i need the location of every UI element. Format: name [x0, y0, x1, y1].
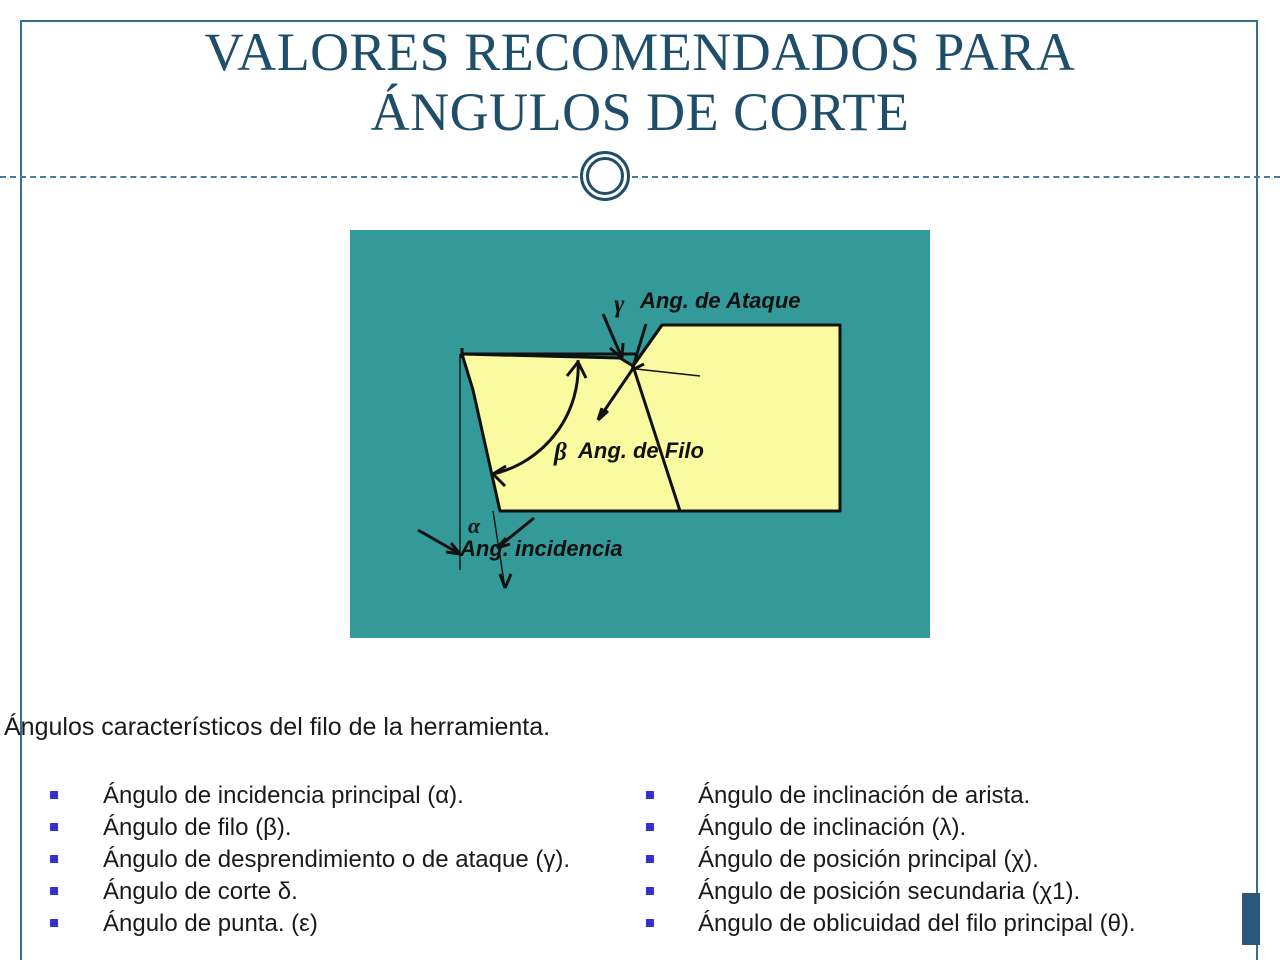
title-divider-dashed-line: [0, 176, 1280, 180]
bullet-square-icon: [50, 855, 58, 863]
bullet-list-left: Ángulo de incidencia principal (α). Ángu…: [50, 780, 650, 940]
bullet-square-icon: [50, 887, 58, 895]
clearance-angle-symbol: α: [468, 513, 481, 538]
bullet-square-icon: [50, 791, 58, 799]
bullet-list-right: Ángulo de inclinación de arista. Ángulo …: [646, 780, 1266, 940]
clearance-angle-label: Ang. incidencia: [459, 536, 623, 561]
page-title: VALORES RECOMENDADOS PARA ÁNGULOS DE COR…: [60, 22, 1220, 142]
bullet-square-icon: [50, 823, 58, 831]
rake-angle-label: Ang. de Ataque: [639, 288, 801, 313]
cutting-tool-angles-diagram: γ Ang. de Ataque β Ang. de Filo α Ang. i…: [350, 230, 930, 638]
list-item-label: Ángulo de corte δ.: [103, 876, 298, 908]
list-item: Ángulo de posición secundaria (χ1).: [646, 876, 1266, 908]
list-item-label: Ángulo de oblicuidad del filo principal …: [698, 908, 1136, 940]
divider-ring-inner-icon: [586, 157, 624, 195]
list-item-label: Ángulo de posición principal (χ).: [698, 844, 1039, 876]
list-item: Ángulo de corte δ.: [50, 876, 650, 908]
bullet-square-icon: [646, 791, 654, 799]
list-item: Ángulo de desprendimiento o de ataque (γ…: [50, 844, 650, 876]
bullet-square-icon: [646, 887, 654, 895]
list-item: Ángulo de filo (β).: [50, 812, 650, 844]
list-item: Ángulo de oblicuidad del filo principal …: [646, 908, 1266, 940]
list-item-label: Ángulo de inclinación (λ).: [698, 812, 966, 844]
list-item-label: Ángulo de posición secundaria (χ1).: [698, 876, 1080, 908]
list-item-label: Ángulo de filo (β).: [103, 812, 292, 844]
wedge-angle-symbol: β: [553, 439, 567, 466]
list-item: Ángulo de inclinación de arista.: [646, 780, 1266, 812]
page-title-line-2: ÁNGULOS DE CORTE: [60, 82, 1220, 142]
list-item: Ángulo de posición principal (χ).: [646, 844, 1266, 876]
rake-angle-symbol: γ: [614, 291, 625, 318]
bullet-square-icon: [50, 919, 58, 927]
wedge-angle-label: Ang. de Filo: [577, 438, 704, 463]
bullet-square-icon: [646, 919, 654, 927]
list-item-label: Ángulo de inclinación de arista.: [698, 780, 1030, 812]
bullet-square-icon: [646, 823, 654, 831]
list-item-label: Ángulo de desprendimiento o de ataque (γ…: [103, 844, 570, 876]
list-item: Ángulo de inclinación (λ).: [646, 812, 1266, 844]
list-item: Ángulo de punta. (ε): [50, 908, 650, 940]
corner-accent-block: [1242, 893, 1260, 945]
page-title-line-1: VALORES RECOMENDADOS PARA: [60, 22, 1220, 82]
list-item-label: Ángulo de incidencia principal (α).: [103, 780, 464, 812]
body-heading: Ángulos característicos del filo de la h…: [4, 712, 550, 742]
list-item-label: Ángulo de punta. (ε): [103, 908, 318, 940]
list-item: Ángulo de incidencia principal (α).: [50, 780, 650, 812]
bullet-square-icon: [646, 855, 654, 863]
